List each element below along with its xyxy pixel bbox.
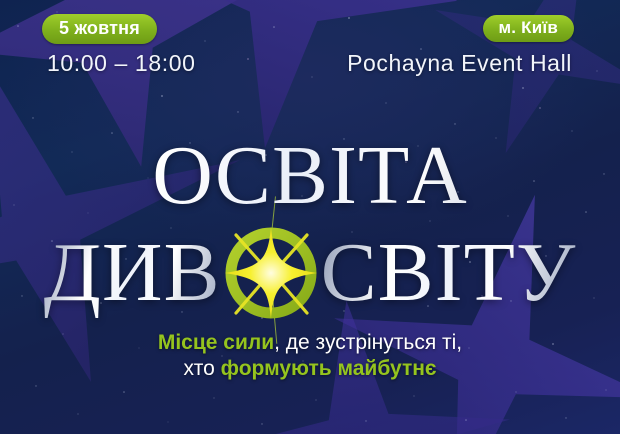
tagline-highlight-2: формують майбутнє: [221, 357, 437, 380]
city-badge: м. Київ: [483, 15, 574, 42]
star-emblem-icon: [219, 221, 323, 325]
event-time: 10:00 – 18:00: [47, 50, 195, 77]
tagline-text-1: , де зустрінуться ті,: [274, 331, 462, 354]
tagline: Місце сили, де зустрінуться ті, хто форм…: [0, 330, 620, 382]
wordmark-part-svitu: СВІТУ: [321, 225, 577, 321]
venue-name: Pochayna Event Hall: [347, 50, 572, 77]
event-poster: 5 жовтня 10:00 – 18:00 м. Київ Pochayna …: [0, 0, 620, 434]
wordmark-part-dyv: ДИВ: [44, 225, 221, 321]
tagline-line-2: хто формують майбутнє: [0, 356, 620, 382]
tagline-highlight-1: Місце сили: [158, 331, 274, 354]
wordmark-line-dyvosvitu: ДИВ: [0, 218, 620, 328]
four-pointed-star-emblem: [219, 221, 323, 325]
wordmark-line-osvita: ОСВІТА: [0, 134, 620, 218]
tagline-text-2: хто: [183, 357, 220, 380]
tagline-line-1: Місце сили, де зустрінуться ті,: [0, 330, 620, 356]
date-badge: 5 жовтня: [42, 14, 157, 44]
